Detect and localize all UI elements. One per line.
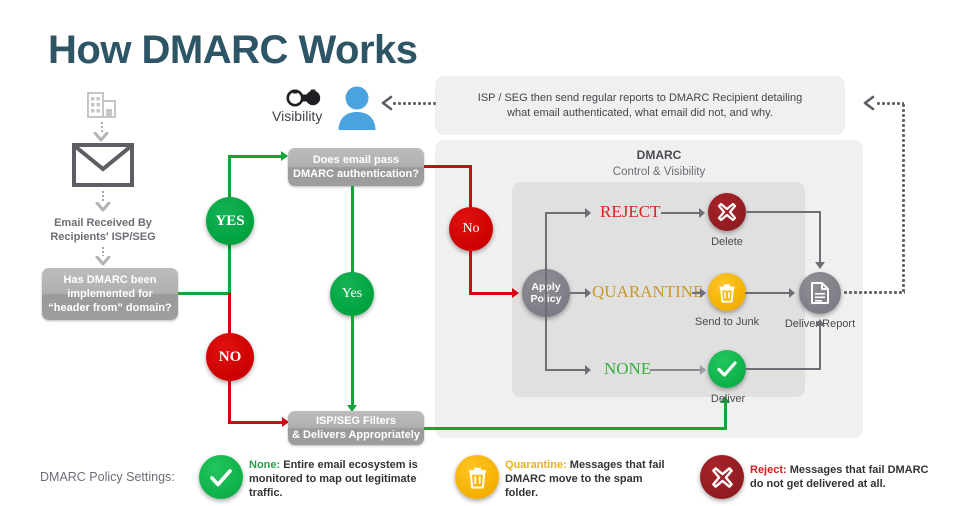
connector-report-dotted-vertical	[901, 103, 906, 293]
arrow-quarantine-to-junk	[700, 288, 706, 298]
connector-spine-to-reject	[545, 212, 587, 214]
document-report-icon	[809, 281, 831, 305]
arrow-reject-to-delete	[699, 208, 705, 218]
arrow-spine-to-reject	[585, 208, 591, 218]
legend-none-line3: traffic.	[249, 486, 429, 500]
connector-no-to-apply-policy	[469, 292, 514, 295]
connector-auth-no-top	[424, 165, 472, 168]
no-badge-auth: No	[449, 207, 493, 251]
connector-spine-to-none	[545, 369, 587, 371]
has-dmarc-line2: implemented for	[48, 287, 171, 301]
legend-icon-quarantine	[455, 455, 499, 499]
connector-deliver-to-report-horizontal	[745, 368, 821, 370]
legend-title: DMARC Policy Settings:	[40, 470, 175, 484]
legend-none-line2: monitored to map out legitimate	[249, 472, 429, 486]
connector-delete-to-report-horizontal	[745, 211, 821, 213]
yes-badge-primary: YES	[206, 197, 254, 245]
connector-yes-to-auth-box	[228, 155, 283, 158]
email-received-line2: Recipients' ISP/SEG	[38, 230, 168, 244]
deliver-outcome-node[interactable]	[708, 350, 746, 388]
legend-none-line1: Entire email ecosystem is	[283, 459, 418, 471]
junk-outcome-node[interactable]	[708, 273, 746, 311]
dmarc-panel-title: DMARC	[549, 148, 769, 162]
check-mark-icon	[208, 466, 234, 489]
legend-icon-none	[199, 455, 243, 499]
policy-word-reject: REJECT	[600, 202, 660, 222]
yes-badge-label: YES	[215, 213, 244, 230]
yes-badge-auth: Yes	[330, 272, 374, 316]
x-mark-icon	[710, 465, 735, 490]
x-mark-icon	[716, 201, 738, 223]
connector-report-panel-to-person	[392, 101, 436, 106]
report-panel-line2: what email authenticated, what email did…	[445, 106, 835, 121]
auth-box-line2: DMARC authentication?	[293, 167, 419, 181]
filters-box-line1: ISP/SEG Filters	[292, 414, 420, 428]
junk-outcome-label: Send to Junk	[681, 316, 773, 328]
person-icon	[336, 85, 378, 130]
legend-icon-reject	[700, 455, 744, 499]
arrow-delete-to-report	[815, 262, 825, 269]
arrow-no-to-apply-policy	[512, 288, 519, 298]
trash-can-icon	[717, 282, 737, 303]
visibility-label: Visibility	[272, 108, 322, 124]
arrow-none-to-deliver	[700, 365, 706, 375]
legend-text-quarantine: Quarantine: Messages that fail DMARC mov…	[505, 458, 680, 500]
check-mark-icon	[716, 359, 738, 379]
delete-outcome-label: Delete	[687, 236, 767, 248]
arrow-apply-to-quarantine	[585, 288, 591, 298]
filters-box-line2: & Delivers Appropriately	[292, 428, 420, 442]
policy-branch-spine	[545, 212, 547, 369]
arrow-junk-to-report	[789, 288, 795, 298]
report-panel-line1: ISP / SEG then send regular reports to D…	[445, 91, 835, 106]
policy-word-none: NONE	[604, 359, 651, 379]
legend-term-reject: Reject:	[750, 464, 787, 476]
does-email-pass-dmarc-box[interactable]: Does email pass DMARC authentication?	[288, 148, 424, 186]
no-badge-label: NO	[219, 349, 242, 366]
connector-auth-no-vertical-lower	[469, 249, 472, 295]
email-received-line1: Email Received By	[38, 216, 168, 230]
connector-auth-yes-upper	[351, 186, 354, 274]
connector-deliver-to-report-vertical	[819, 325, 821, 370]
dmarc-panel-subtitle: Control & Visibility	[549, 166, 769, 178]
legend-term-none: None:	[249, 459, 280, 471]
email-received-caption: Email Received By Recipients' ISP/SEG	[38, 216, 168, 244]
connector-filters-to-deliver-vertical	[724, 402, 727, 430]
has-dmarc-line1: Has DMARC been	[48, 273, 171, 287]
envelope-icon	[72, 143, 134, 187]
connector-report-dotted-top	[876, 101, 904, 106]
arrow-report-panel-to-person	[379, 95, 395, 116]
legend-term-quarantine: Quarantine:	[505, 459, 567, 471]
arrow-yes-to-auth-box	[281, 151, 288, 161]
legend-reject-line1: Messages that fail DMARC	[790, 464, 929, 476]
delete-outcome-node[interactable]	[708, 193, 746, 231]
connector-none-to-deliver	[650, 369, 702, 371]
connector-no-vertical-upper	[228, 293, 231, 334]
trash-can-icon	[466, 465, 489, 489]
auth-box-line1: Does email pass	[293, 153, 419, 167]
connector-auth-no-vertical-upper	[469, 165, 472, 209]
isp-seg-filters-box[interactable]: ISP/SEG Filters & Delivers Appropriately	[288, 411, 424, 445]
no-badge-primary: NO	[206, 333, 254, 381]
connector-yes-horizontal	[178, 292, 231, 295]
legend-reject-line2: do not get delivered at all.	[750, 477, 945, 491]
connector-report-dotted-right	[843, 290, 905, 295]
arrow-spine-to-none	[585, 365, 591, 375]
connector-junk-to-report	[745, 292, 791, 294]
yes-badge-auth-label: Yes	[342, 286, 362, 302]
office-building-icon	[87, 92, 117, 118]
legend-quarantine-line3: folder.	[505, 486, 680, 500]
arrow-deliver-to-report	[815, 319, 825, 326]
legend-text-none: None: Entire email ecosystem is monitore…	[249, 458, 429, 500]
connector-filters-to-deliver-horizontal	[424, 427, 727, 430]
deliver-outcome-label: Deliver	[690, 393, 766, 405]
has-dmarc-line3: “header from” domain?	[48, 301, 171, 315]
no-badge-auth-label: No	[462, 221, 479, 237]
page-title: How DMARC Works	[48, 28, 418, 73]
has-dmarc-implemented-box[interactable]: Has DMARC been implemented for “header f…	[42, 268, 178, 320]
binoculars-icon	[286, 88, 324, 108]
report-panel-text: ISP / SEG then send regular reports to D…	[445, 91, 835, 121]
arrow-dotted-to-report-panel	[861, 95, 877, 116]
connector-reject-to-delete	[661, 212, 701, 214]
policy-word-quarantine: QUARANTINE	[592, 282, 703, 302]
connector-no-to-filters	[228, 421, 284, 424]
legend-quarantine-line1: Messages that fail	[570, 459, 665, 471]
legend-text-reject: Reject: Messages that fail DMARC do not …	[750, 463, 945, 491]
connector-delete-to-report-vertical	[819, 211, 821, 266]
connector-auth-yes-lower	[351, 314, 354, 407]
legend-quarantine-line2: DMARC move to the spam	[505, 472, 680, 486]
connector-no-vertical-lower	[228, 379, 231, 423]
deliver-report-node[interactable]	[799, 272, 841, 314]
